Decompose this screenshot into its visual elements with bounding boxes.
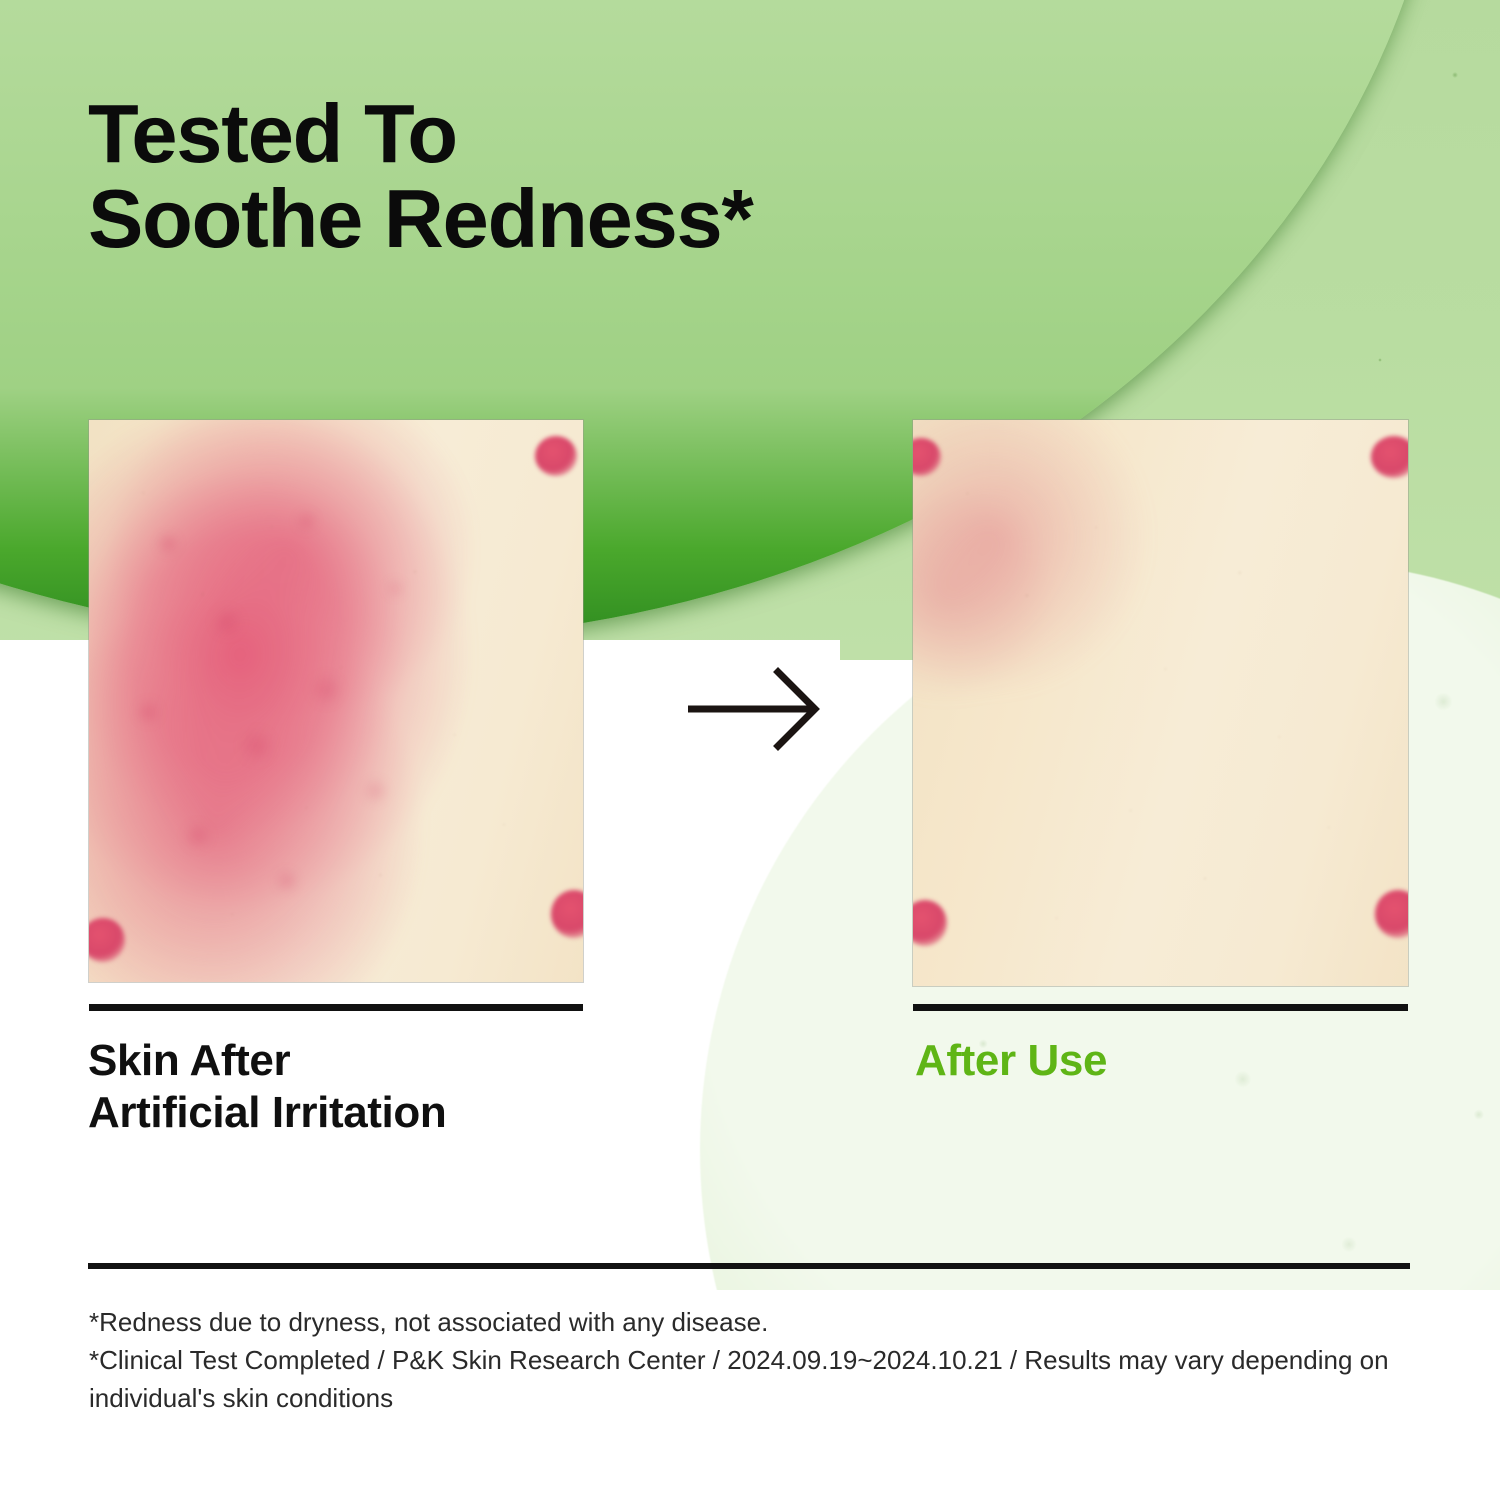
before-caption: Skin After Artificial Irritation — [88, 1035, 446, 1139]
promo-graphic: Tested To Soothe Redness* Skin After Art… — [0, 0, 1500, 1500]
after-caption-rule — [913, 1004, 1408, 1011]
after-caption: After Use — [915, 1035, 1107, 1087]
right-arrow-icon — [688, 666, 824, 752]
after-photo — [913, 420, 1408, 986]
footer-divider — [88, 1263, 1410, 1269]
skin-texture-layer — [89, 420, 583, 982]
page-title: Tested To Soothe Redness* — [88, 92, 753, 261]
skin-texture-layer — [913, 420, 1408, 986]
marker-dot-top-right — [535, 436, 577, 476]
before-photo — [89, 420, 583, 982]
footnote-text: *Redness due to dryness, not associated … — [89, 1304, 1419, 1418]
before-caption-rule — [89, 1004, 583, 1011]
